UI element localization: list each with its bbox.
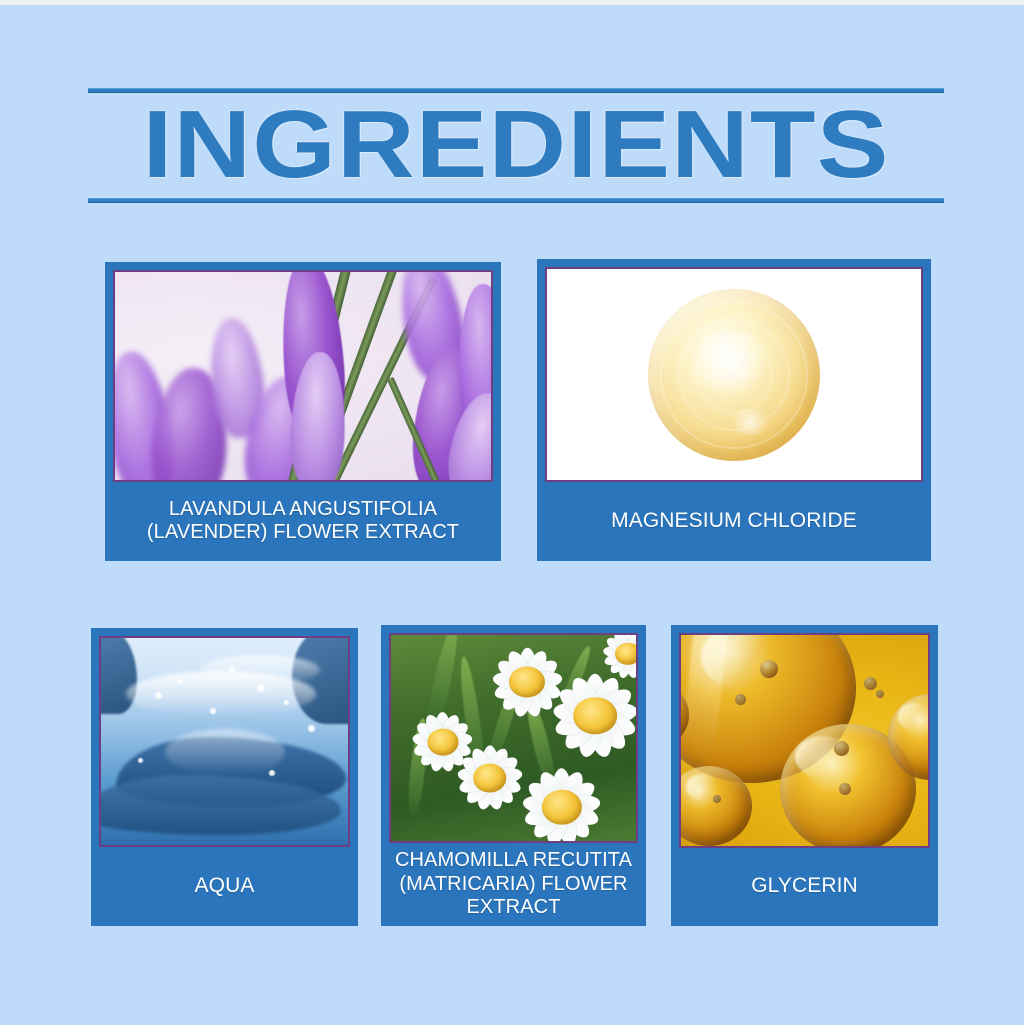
ingredient-card-aqua[interactable]: AQUA [91, 628, 358, 926]
ingredient-image-glycerin [679, 633, 930, 848]
ingredient-image-lavender [113, 270, 493, 482]
ingredient-image-aqua [99, 636, 350, 847]
ingredient-card-chamomilla-recutita[interactable]: CHAMOMILLA RECUTITA (MATRICARIA) FLOWER … [381, 625, 646, 926]
ingredient-caption-aqua: AQUA [92, 847, 357, 925]
title-rule-bottom [88, 198, 944, 203]
daisy [484, 639, 570, 725]
daisy-center [573, 697, 617, 735]
daisy-center [615, 642, 638, 664]
ingredient-card-glycerin[interactable]: GLYCERIN [671, 625, 938, 926]
daisy-center [541, 790, 581, 825]
top-edge-strip [0, 0, 1024, 5]
ingredient-caption-lavender: LAVANDULA ANGUSTIFOLIA (LAVENDER) FLOWER… [106, 482, 500, 560]
page-title: INGREDIENTS [37, 92, 996, 198]
daisy-center [509, 667, 545, 698]
daisy [597, 633, 638, 685]
ingredient-card-magnesium-chloride[interactable]: MAGNESIUM CHLORIDE [537, 259, 931, 561]
ingredient-card-lavender[interactable]: LAVANDULA ANGUSTIFOLIA (LAVENDER) FLOWER… [105, 262, 501, 561]
daisy-center [473, 764, 507, 793]
ingredient-caption-glycerin: GLYCERIN [672, 848, 937, 925]
daisy [514, 759, 610, 844]
ingredient-caption-chamomilla-recutita: CHAMOMILLA RECUTITA (MATRICARIA) FLOWER … [382, 843, 645, 925]
ingredient-caption-magnesium-chloride: MAGNESIUM CHLORIDE [538, 482, 930, 560]
page-title-block: INGREDIENTS [88, 88, 944, 206]
ingredient-image-magnesium-chloride [545, 267, 923, 482]
ingredient-image-chamomilla-recutita [389, 633, 638, 843]
